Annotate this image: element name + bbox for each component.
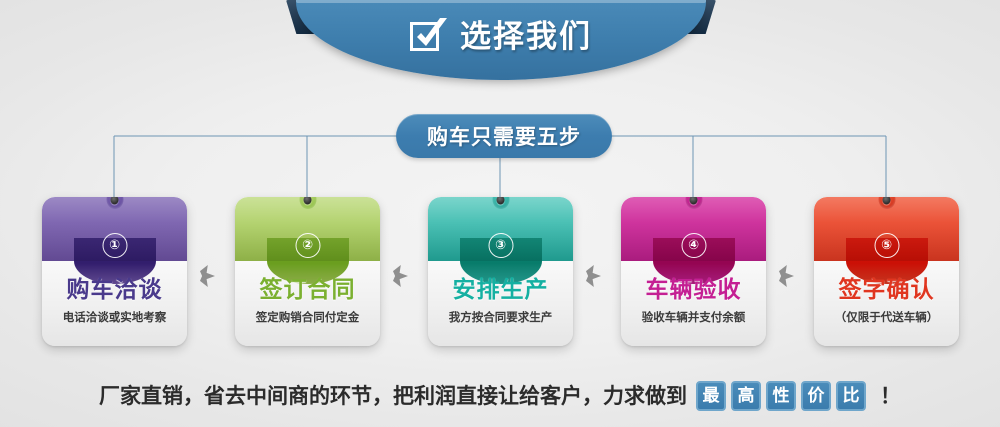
arrow-right-diamond-icon (586, 265, 601, 287)
step-title: 签字确认 (814, 279, 959, 302)
checkbox-checked-icon (410, 19, 446, 55)
step-number-badge: ② (295, 233, 320, 258)
footer-tagline: 厂家直销，省去中间商的环节，把利润直接让给客户，力求做到 最高性价比 ！ (0, 376, 1000, 416)
promo-banner-page: 选择我们 购车只需要五步 ① 购车洽谈 电话洽谈或实地考察 ② 签订合同 签定购… (0, 0, 1000, 427)
step-number-badge: ③ (488, 233, 513, 258)
step-description: 签定购销合同付定金 (235, 312, 380, 324)
footer-highlight-char: 性 (766, 381, 796, 411)
footer-highlight-char: 比 (836, 381, 866, 411)
step-description: 我方按合同要求生产 (428, 312, 573, 324)
step-card-3[interactable]: ③ 安排生产 我方按合同要求生产 (428, 197, 573, 346)
arrow-right-diamond-icon (779, 265, 794, 287)
step-number-badge: ⑤ (874, 233, 899, 258)
step-description: 电话洽谈或实地考察 (42, 312, 187, 324)
footer-highlight-char: 最 (696, 381, 726, 411)
step-number-badge: ④ (681, 233, 706, 258)
step-card-4[interactable]: ④ 车辆验收 验收车辆并支付余额 (621, 197, 766, 346)
footer-lead-text: 厂家直销，省去中间商的环节，把利润直接让给客户，力求做到 (99, 386, 687, 407)
footer-highlight-group: 最高性价比 (696, 381, 866, 411)
banner-title: 选择我们 (460, 22, 592, 53)
step-description: （仅限于代送车辆） (814, 312, 959, 324)
footer-highlight-char: 价 (801, 381, 831, 411)
arrow-right-diamond-icon (200, 265, 215, 287)
subheading-pill: 购车只需要五步 (396, 114, 612, 158)
step-title: 购车洽谈 (42, 279, 187, 302)
step-number-badge: ① (102, 233, 127, 258)
step-title: 车辆验收 (621, 279, 766, 302)
step-card-1[interactable]: ① 购车洽谈 电话洽谈或实地考察 (42, 197, 187, 346)
step-title: 签订合同 (235, 279, 380, 302)
footer-highlight-char: 高 (731, 381, 761, 411)
step-card-2[interactable]: ② 签订合同 签定购销合同付定金 (235, 197, 380, 346)
step-title: 安排生产 (428, 279, 573, 302)
step-description: 验收车辆并支付余额 (621, 312, 766, 324)
arrow-right-diamond-icon (393, 265, 408, 287)
footer-tail-text: ！ (880, 386, 901, 407)
step-card-5[interactable]: ⑤ 签字确认 （仅限于代送车辆） (814, 197, 959, 346)
subheading-label: 购车只需要五步 (427, 121, 581, 151)
header-banner: 选择我们 (0, 0, 1000, 92)
banner-shape: 选择我们 (296, 0, 706, 80)
